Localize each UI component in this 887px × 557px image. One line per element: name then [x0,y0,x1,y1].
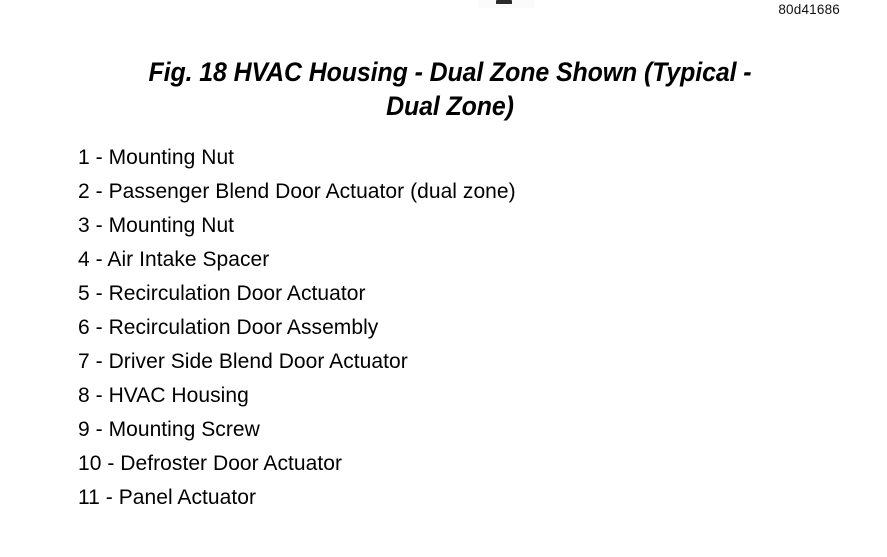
legend-item: 6 - Recirculation Door Assembly [78,311,516,345]
callout-label: Driver Side Blend Door Actuator [109,350,408,373]
callout-separator: - [107,452,114,475]
callout-number: 2 [78,180,90,203]
callout-number: 11 [78,486,100,509]
figure-title-line-1: Fig. 18 HVAC Housing - Dual Zone Shown (… [83,55,816,89]
callout-label: Recirculation Door Actuator [109,282,366,305]
legend-item: 7 - Driver Side Blend Door Actuator [78,345,516,379]
callout-label: Defroster Door Actuator [120,452,342,475]
callout-number: 7 [78,350,90,373]
legend-item: 9 - Mounting Screw [78,413,516,447]
callout-separator: - [96,282,103,305]
legend-item: 3 - Mounting Nut [78,209,516,243]
figure-legend-list: 1 - Mounting Nut2 - Passenger Blend Door… [78,141,516,515]
callout-number: 5 [78,282,90,305]
figure-illustration-crop-remnant [496,0,512,4]
legend-item: 1 - Mounting Nut [78,141,516,175]
callout-number: 10 [78,452,101,475]
callout-separator: - [96,384,103,407]
legend-item: 8 - HVAC Housing [78,379,516,413]
callout-separator: - [96,214,103,237]
callout-number: 8 [78,384,90,407]
callout-label: Mounting Screw [109,418,260,441]
legend-item: 11 - Panel Actuator [78,481,516,515]
callout-label: Panel Actuator [119,486,256,509]
callout-separator: - [106,486,113,509]
callout-number: 4 [78,248,90,271]
figure-title-line-2: Dual Zone) [83,89,816,123]
callout-number: 1 [78,146,90,169]
callout-separator: - [96,418,103,441]
callout-label: Mounting Nut [109,146,235,169]
callout-label: Air Intake Spacer [107,248,269,271]
callout-number: 9 [78,418,90,441]
callout-separator: - [96,316,103,339]
figure-title: Fig. 18 HVAC Housing - Dual Zone Shown (… [83,55,816,123]
legend-item: 4 - Air Intake Spacer [78,243,516,277]
callout-separator: - [96,248,103,271]
document-page: 80d41686 Fig. 18 HVAC Housing - Dual Zon… [0,0,887,557]
callout-label: Passenger Blend Door Actuator (dual zone… [109,180,516,203]
legend-item: 10 - Defroster Door Actuator [78,447,516,481]
callout-separator: - [96,180,103,203]
legend-item: 5 - Recirculation Door Actuator [78,277,516,311]
callout-label: HVAC Housing [109,384,249,407]
callout-label: Mounting Nut [109,214,235,237]
drawing-number: 80d41686 [778,2,840,18]
callout-label: Recirculation Door Assembly [109,316,379,339]
callout-number: 3 [78,214,90,237]
legend-item: 2 - Passenger Blend Door Actuator (dual … [78,175,516,209]
callout-separator: - [96,146,103,169]
callout-separator: - [96,350,103,373]
callout-number: 6 [78,316,90,339]
